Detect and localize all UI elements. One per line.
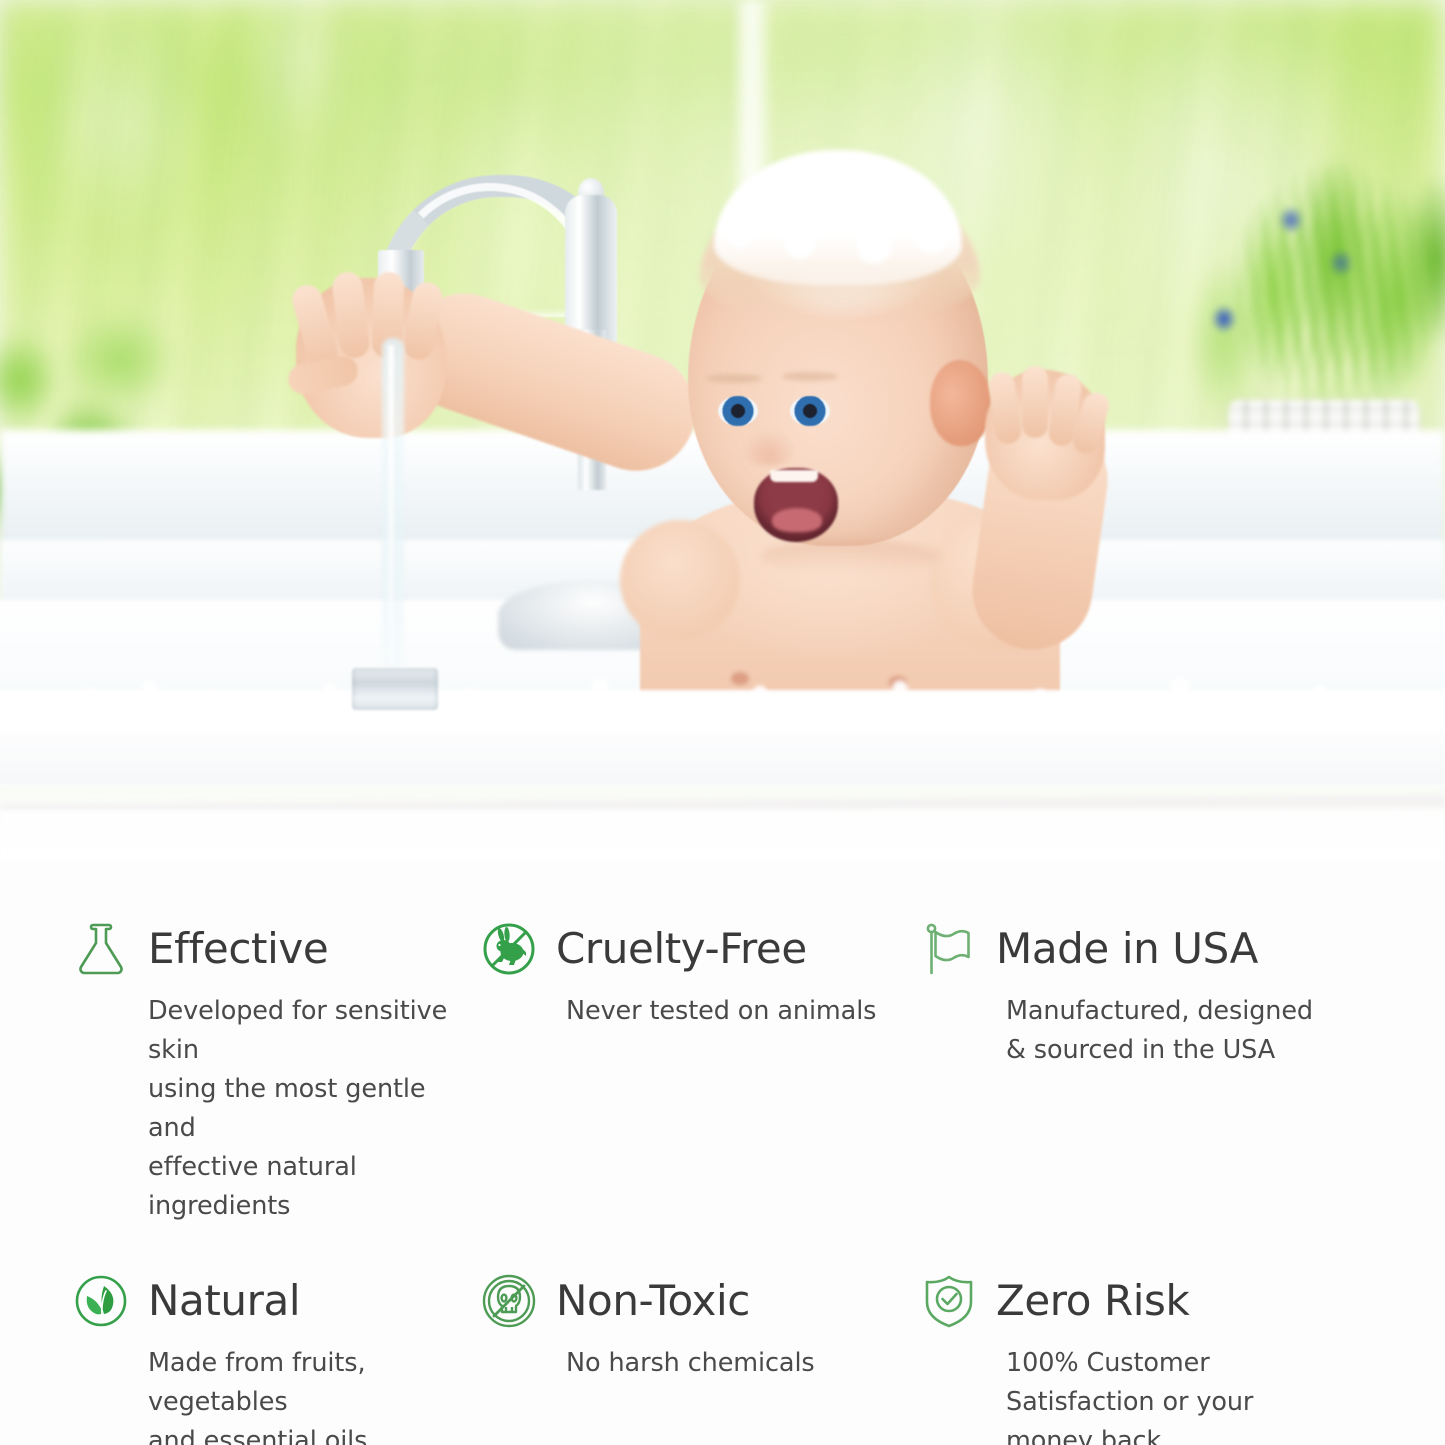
feature-description: No harsh chemicals [566, 1344, 906, 1383]
baby-eye [790, 396, 830, 426]
shield-check-icon [920, 1272, 978, 1330]
baby-ear [930, 360, 992, 446]
baby-nose [742, 430, 796, 466]
hero-photo [0, 0, 1445, 860]
baby-eyebrow [706, 374, 762, 383]
feature-description: Made from fruits, vegetables and essenti… [148, 1344, 470, 1445]
feature-cruelty-free: Cruelty-Free Never tested on animals [470, 920, 920, 1226]
feature-title: Zero Risk [996, 1280, 1189, 1322]
feature-heading-row: Natural [72, 1272, 470, 1330]
feature-description: Developed for sensitive skin using the m… [148, 992, 470, 1226]
feature-description: Manufactured, designed & sourced in the … [1006, 992, 1336, 1070]
feature-natural: Natural Made from fruits, vegetables and… [0, 1272, 470, 1445]
feature-heading-row: Made in USA [920, 920, 1380, 978]
feature-title: Made in USA [996, 928, 1258, 970]
no-rabbit-icon [480, 920, 538, 978]
feature-description: 100% Customer Satisfaction or your money… [1006, 1344, 1336, 1445]
leaves-circle-icon [72, 1272, 130, 1330]
feature-non-toxic: Non-Toxic No harsh chemicals [470, 1272, 920, 1445]
product-feature-page: Effective Developed for sensitive skin u… [0, 0, 1445, 1445]
baby-neck-crease [760, 540, 940, 574]
no-skull-icon [480, 1272, 538, 1330]
flag-icon [920, 920, 978, 978]
blue-flower-icon [1330, 250, 1352, 276]
feature-title: Natural [148, 1280, 300, 1322]
photo-white-fade [0, 700, 1445, 860]
feature-title: Cruelty-Free [556, 928, 807, 970]
water-highlight [388, 345, 394, 675]
blue-flower-icon [1207, 300, 1241, 338]
feature-title: Non-Toxic [556, 1280, 750, 1322]
baby-tongue [772, 508, 822, 532]
feature-heading-row: Effective [72, 920, 470, 978]
feature-zero-risk: Zero Risk 100% Customer Satisfaction or … [920, 1272, 1380, 1445]
blue-flower-icon [1278, 205, 1304, 235]
baby-eyebrow [782, 372, 838, 381]
baby-teeth [770, 470, 818, 482]
baby-left-shoulder [620, 520, 740, 640]
feature-grid: Effective Developed for sensitive skin u… [0, 900, 1445, 1445]
feature-heading-row: Non-Toxic [480, 1272, 920, 1330]
baby-eye [718, 396, 758, 426]
feature-heading-row: Cruelty-Free [480, 920, 920, 978]
feature-effective: Effective Developed for sensitive skin u… [0, 920, 470, 1226]
faucet-handle [565, 195, 617, 345]
feature-title: Effective [148, 928, 328, 970]
feature-heading-row: Zero Risk [920, 1272, 1380, 1330]
baby-finger [1022, 366, 1048, 438]
flask-icon [72, 920, 130, 978]
feature-description: Never tested on animals [566, 992, 906, 1031]
feature-made-in-usa: Made in USA Manufactured, designed & sou… [920, 920, 1380, 1226]
